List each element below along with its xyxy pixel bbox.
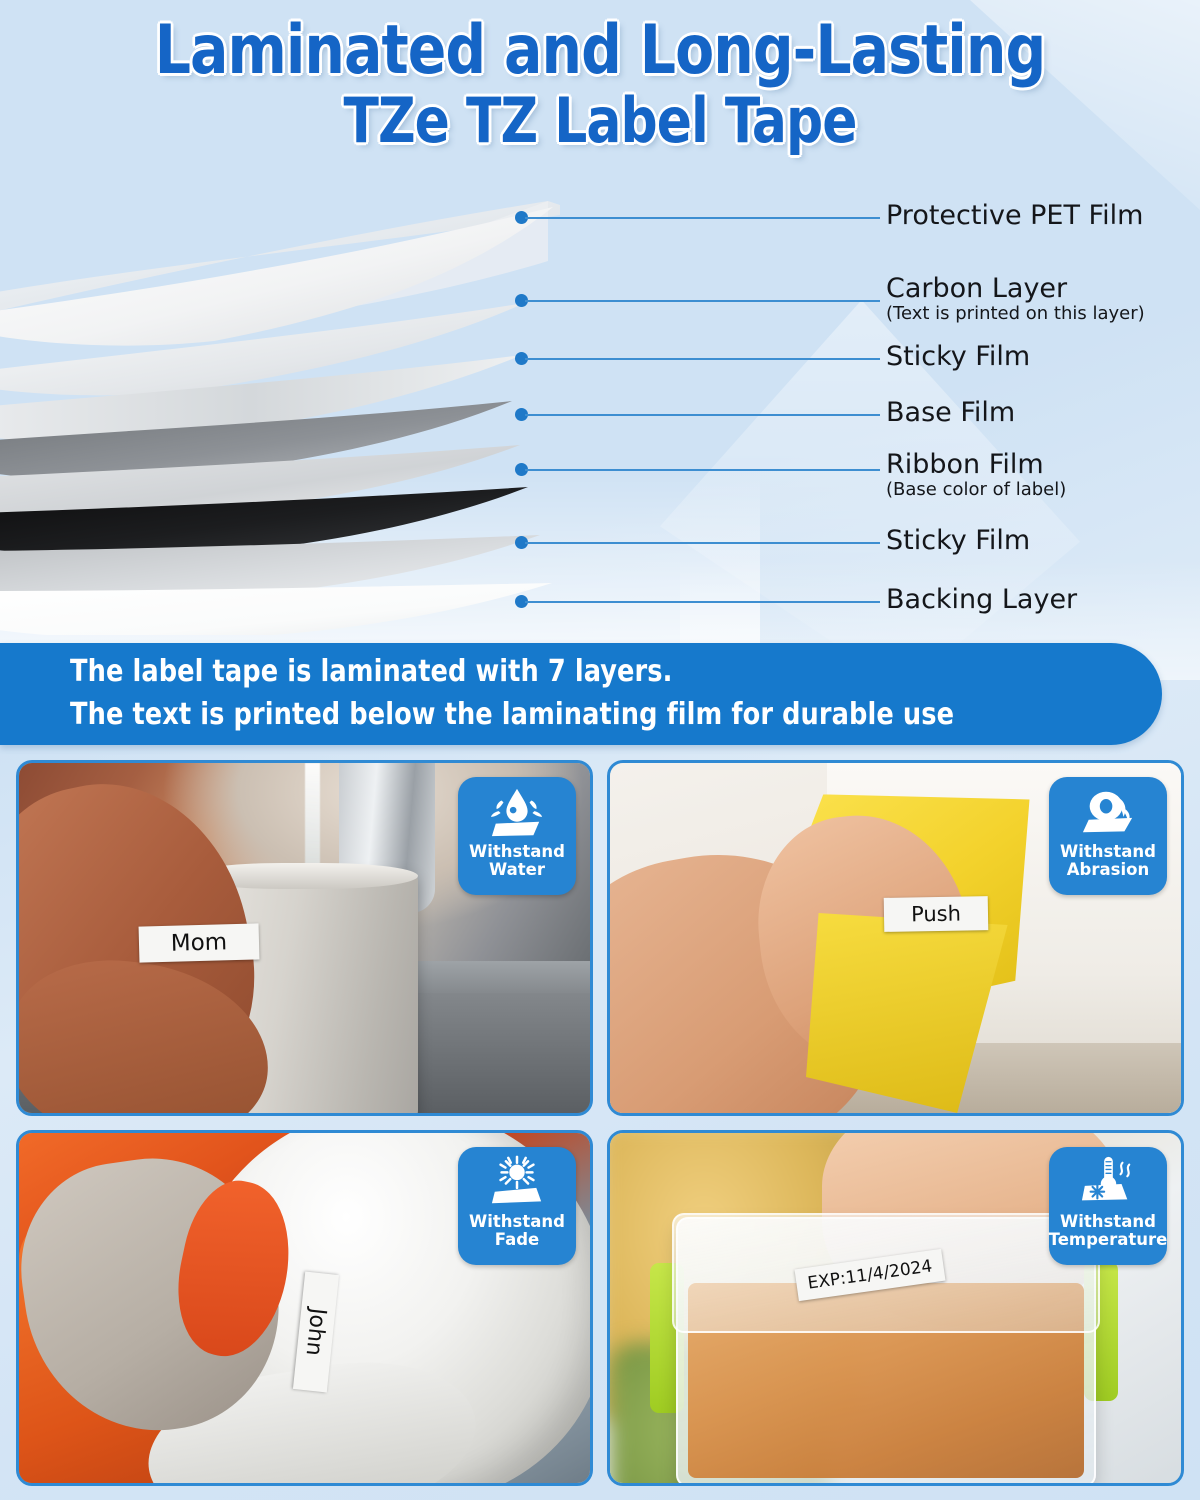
layer-label-sticky-film-upper: Sticky Film (886, 343, 1030, 371)
layer-label-subtext: (Text is printed on this layer) (886, 304, 1145, 324)
layer-label-sticky-film-lower: Sticky Film (886, 527, 1030, 555)
badge-label: Withstand Abrasion (1057, 843, 1159, 880)
badge-withstand-water: Withstand Water (458, 777, 576, 895)
panel-water: Mom Withstand Water (16, 760, 593, 1116)
layer-label-backing-layer: Backing Layer (886, 586, 1077, 614)
layer-label-text: Sticky Film (886, 343, 1030, 371)
badge-withstand-abrasion: Withstand Abrasion (1049, 777, 1167, 895)
page-title: Laminated and Long-Lasting TZe TZ Label … (0, 16, 1200, 153)
tape-label-push: Push (884, 896, 989, 932)
layer-label-protective-pet-film: Protective PET Film (886, 202, 1143, 230)
layer-label-carbon-layer: Carbon Layer (Text is printed on this la… (886, 275, 1145, 324)
badge-label: Withstand Water (466, 843, 568, 880)
laminate-info-banner: The label tape is laminated with 7 layer… (0, 643, 1162, 745)
leader-line-2 (525, 300, 880, 302)
banner-line-1: The label tape is laminated with 7 layer… (70, 651, 1107, 694)
leader-line-1 (525, 217, 880, 219)
badge-label-line2: Water (489, 860, 545, 879)
tape-roll-abrasion-icon (1077, 785, 1139, 841)
leader-line-5 (525, 469, 880, 471)
badge-label: Withstand Temperature (1046, 1213, 1171, 1250)
layer-label-subtext: (Base color of label) (886, 480, 1066, 500)
panel-abrasion: Push Withstand Abrasion (607, 760, 1184, 1116)
thermometer-snowflake-icon (1077, 1155, 1139, 1211)
badge-label-line1: Withstand (469, 1212, 565, 1231)
banner-line-2: The text is printed below the laminating… (70, 694, 1107, 737)
leader-line-7 (525, 601, 880, 603)
sun-fade-icon (486, 1155, 548, 1211)
layer-label-ribbon-film: Ribbon Film (Base color of label) (886, 451, 1066, 500)
badge-label-line2: Fade (495, 1230, 539, 1249)
badge-withstand-fade: Withstand Fade (458, 1147, 576, 1265)
badge-label-line1: Withstand (1060, 1212, 1156, 1231)
leader-line-3 (525, 358, 880, 360)
leader-line-6 (525, 542, 880, 544)
badge-label-line2: Temperature (1049, 1230, 1168, 1249)
layer-label-list: Protective PET Film Carbon Layer (Text i… (886, 195, 1200, 635)
badge-label-line2: Abrasion (1067, 860, 1149, 879)
tape-label-mom: Mom (139, 923, 260, 962)
layer-label-text: Base Film (886, 399, 1015, 427)
layer-label-text: Backing Layer (886, 586, 1077, 614)
panel-fade: John (16, 1130, 593, 1486)
water-drop-icon (486, 785, 548, 841)
layer-label-text: Ribbon Film (886, 451, 1066, 479)
badge-label: Withstand Fade (466, 1213, 568, 1250)
panel-temperature: EXP:11/4/2024 (607, 1130, 1184, 1486)
page-title-line-2: TZe TZ Label Tape (42, 89, 1158, 152)
layer-label-base-film: Base Film (886, 399, 1015, 427)
layer-label-text: Sticky Film (886, 527, 1030, 555)
badge-withstand-temperature: Withstand Temperature (1049, 1147, 1167, 1265)
layer-label-text: Protective PET Film (886, 202, 1143, 230)
badge-label-line1: Withstand (469, 842, 565, 861)
leader-line-4 (525, 414, 880, 416)
badge-label-line1: Withstand (1060, 842, 1156, 861)
page-title-line-1: Laminated and Long-Lasting (42, 16, 1158, 85)
layer-label-text: Carbon Layer (886, 275, 1145, 303)
feature-photo-grid: Mom Withstand Water Push (16, 760, 1184, 1486)
